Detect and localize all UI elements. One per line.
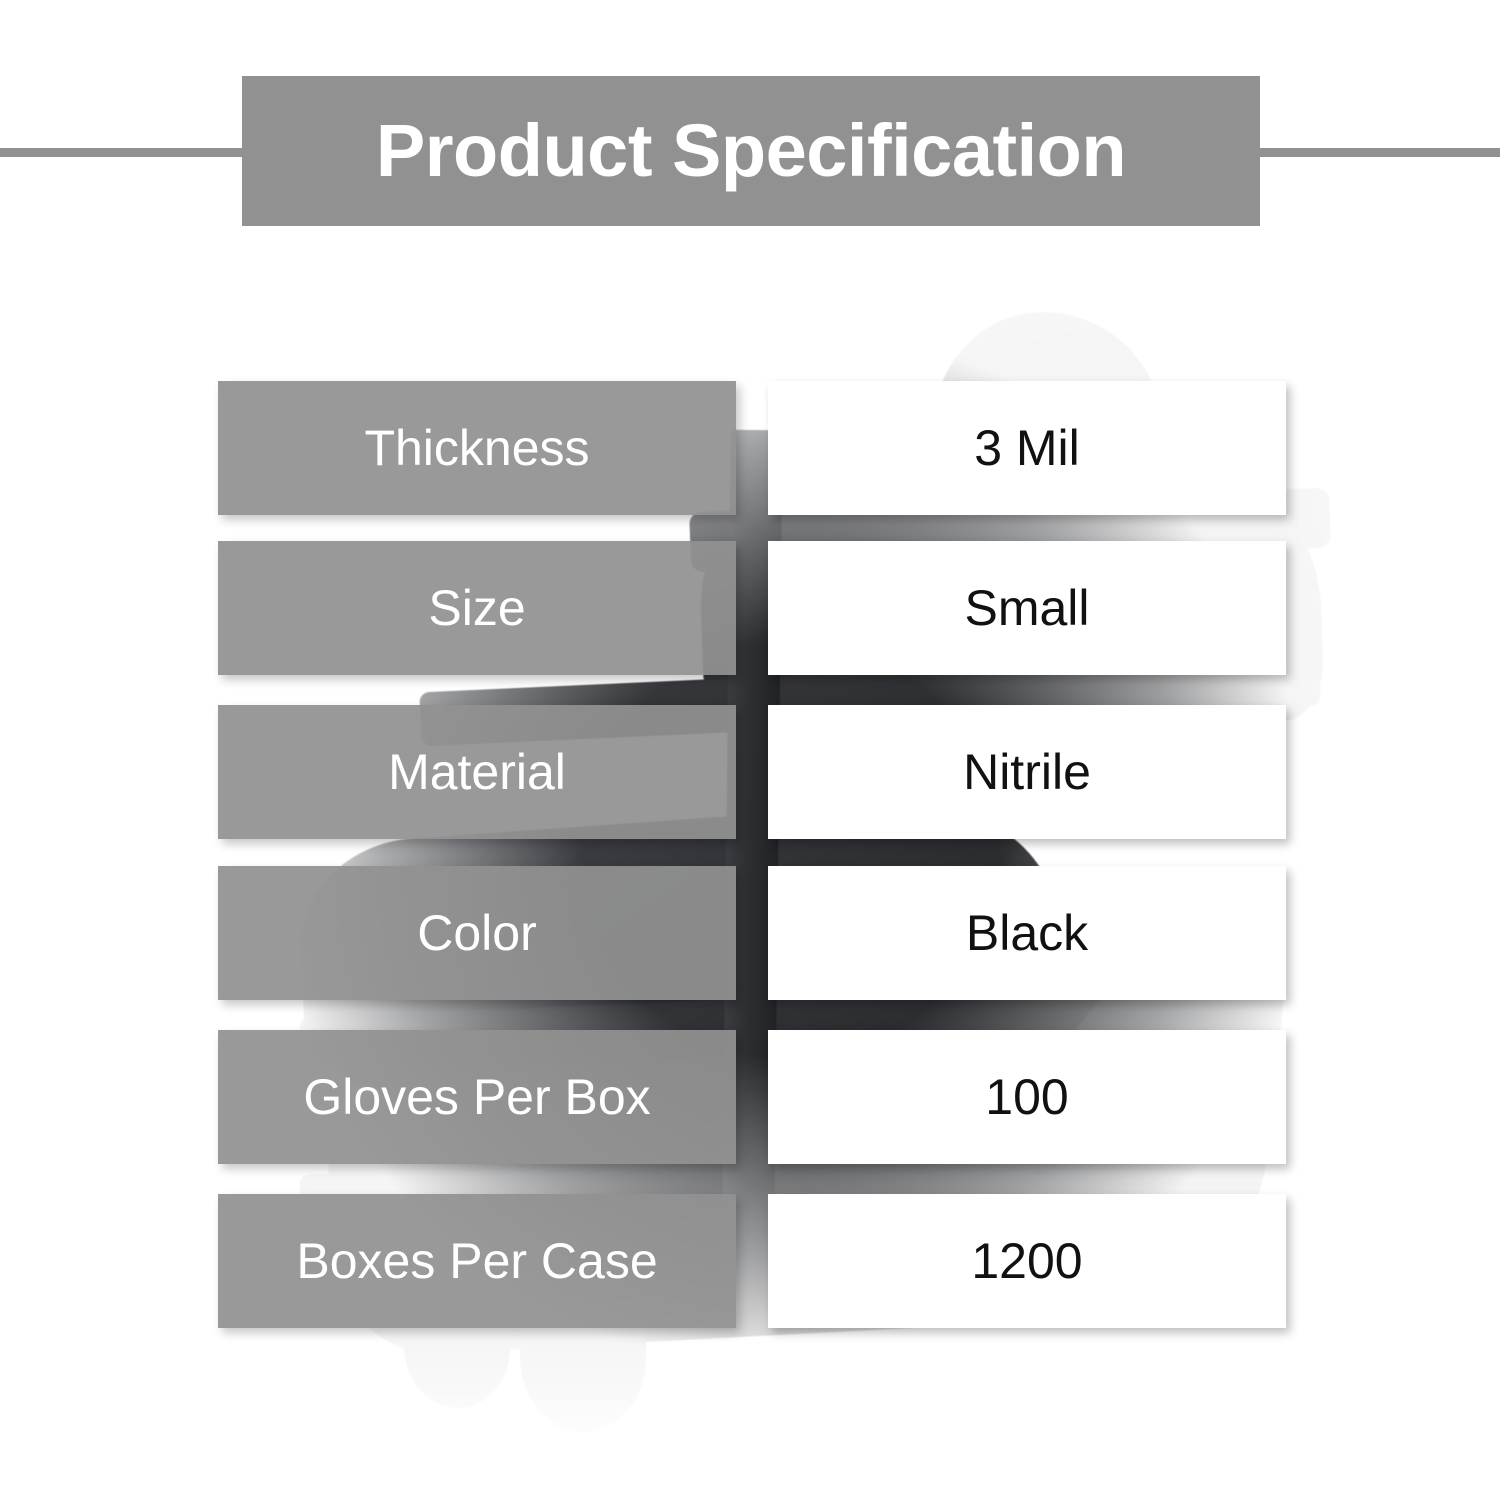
spec-value-text: Black	[966, 904, 1088, 962]
spec-label-cell: Size	[218, 541, 736, 675]
spec-label-text: Material	[388, 743, 566, 801]
spec-label-text: Boxes Per Case	[296, 1232, 657, 1290]
spec-value-cell: 100	[768, 1030, 1286, 1164]
product-specification-infographic: Product Specification Thickness 3 Mil Si…	[0, 0, 1500, 1500]
spec-value-text: 3 Mil	[974, 419, 1080, 477]
spec-label-cell: Color	[218, 866, 736, 1000]
spec-value-cell: 1200	[768, 1194, 1286, 1328]
spec-value-cell: Black	[768, 866, 1286, 1000]
spec-value-cell: Small	[768, 541, 1286, 675]
spec-value-cell: Nitrile	[768, 705, 1286, 839]
specification-table: Thickness 3 Mil Size Small Material Nitr…	[0, 0, 1500, 1500]
spec-value-text: 1200	[971, 1232, 1082, 1290]
spec-value-text: 100	[985, 1068, 1068, 1126]
spec-label-cell: Gloves Per Box	[218, 1030, 736, 1164]
spec-value-text: Small	[964, 579, 1089, 637]
spec-value-text: Nitrile	[963, 743, 1091, 801]
spec-label-cell: Material	[218, 705, 736, 839]
spec-label-text: Color	[417, 904, 536, 962]
spec-value-cell: 3 Mil	[768, 381, 1286, 515]
spec-label-cell: Boxes Per Case	[218, 1194, 736, 1328]
spec-label-cell: Thickness	[218, 381, 736, 515]
spec-label-text: Gloves Per Box	[303, 1068, 650, 1126]
spec-label-text: Size	[428, 579, 525, 637]
spec-label-text: Thickness	[364, 419, 589, 477]
